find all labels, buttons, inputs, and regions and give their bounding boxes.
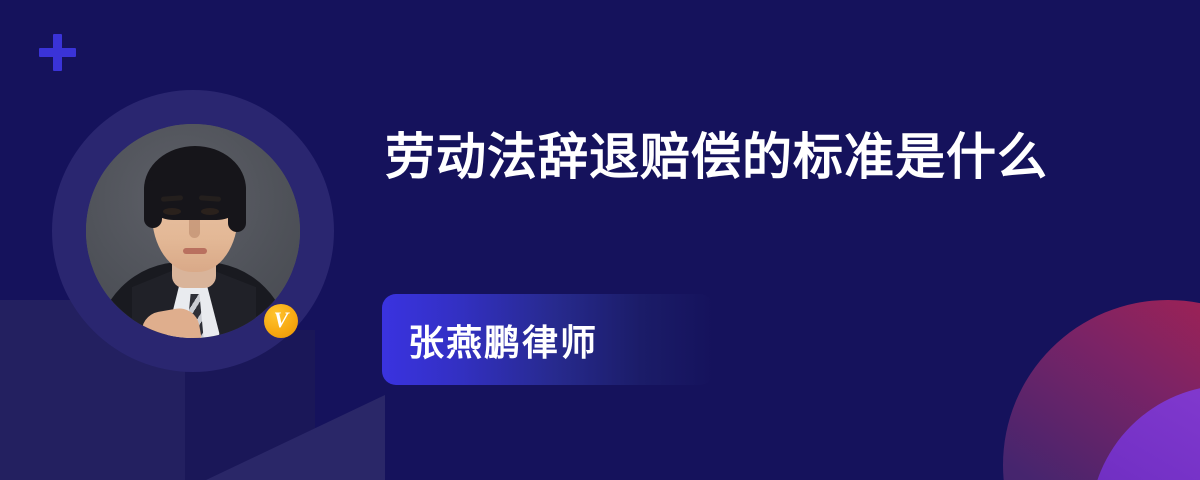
avatar-photo <box>86 124 300 338</box>
portrait-eye-left <box>163 208 181 215</box>
page-title: 劳动法辞退赔偿的标准是什么 <box>385 120 1075 194</box>
headline-block: 劳动法辞退赔偿的标准是什么 <box>385 120 1085 194</box>
verified-badge-icon: V <box>264 304 298 338</box>
lawyer-name-label: 张燕鹏律师 <box>408 314 598 366</box>
portrait-hair-side-left <box>144 180 162 228</box>
plus-icon <box>39 34 76 71</box>
portrait-hair-side-right <box>228 180 246 232</box>
portrait-mouth <box>183 248 207 254</box>
plus-icon-bar-vertical <box>53 34 62 71</box>
portrait-nose <box>189 220 200 238</box>
portrait-eye-right <box>201 208 219 215</box>
lawyer-banner: V 劳动法辞退赔偿的标准是什么 张燕鹏律师 <box>0 0 1200 480</box>
lawyer-name-badge[interactable]: 张燕鹏律师 <box>382 294 714 385</box>
verified-badge-label: V <box>274 309 289 331</box>
